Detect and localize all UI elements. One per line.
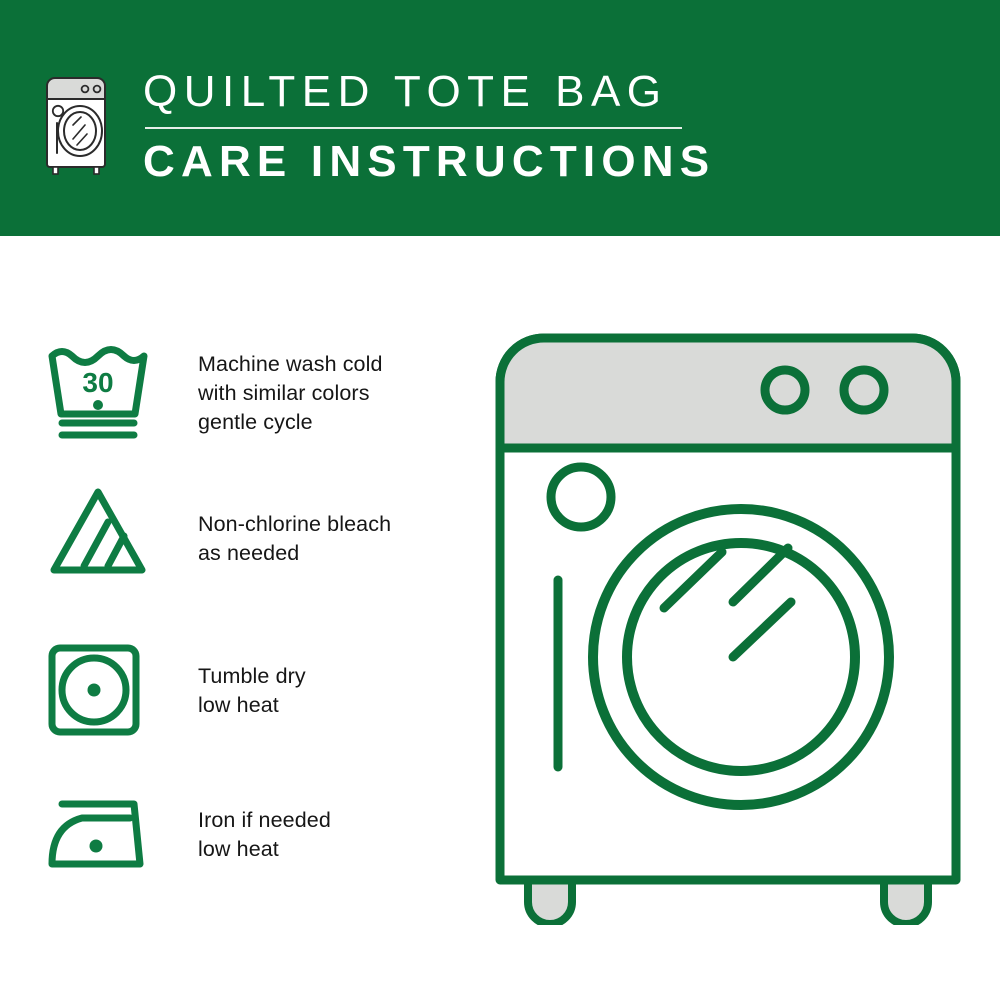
- header-banner: QUILTED TOTE BAG CARE INSTRUCTIONS: [0, 0, 1000, 236]
- care-instructions-poster: QUILTED TOTE BAG CARE INSTRUCTIONS 30 Ma…: [0, 0, 1000, 1000]
- care-item-label: Machine wash cold with similar colors ge…: [198, 344, 383, 437]
- svg-text:30: 30: [82, 367, 113, 398]
- care-item-machine-wash: 30 Machine wash cold with similar colors…: [46, 344, 383, 440]
- care-item-label: Iron if needed low heat: [198, 792, 331, 864]
- leg-right: [884, 878, 928, 924]
- title-divider: [145, 127, 682, 129]
- washing-machine-icon: [43, 67, 115, 175]
- machine-wash-30-gentle-symbol: 30: [46, 344, 156, 440]
- care-instructions-list: 30 Machine wash cold with similar colors…: [0, 236, 470, 1000]
- care-item-tumble-dry: Tumble dry low heat: [46, 642, 306, 738]
- header-title-group: QUILTED TOTE BAG CARE INSTRUCTIONS: [143, 66, 843, 188]
- page-title: QUILTED TOTE BAG: [143, 66, 843, 118]
- leg-left: [528, 878, 572, 924]
- page-subtitle: CARE INSTRUCTIONS: [143, 136, 843, 188]
- front-load-washing-machine-illustration: [492, 330, 964, 925]
- non-chlorine-bleach-symbol: [46, 484, 156, 576]
- care-item-bleach: Non-chlorine bleach as needed: [46, 484, 391, 576]
- iron-low-heat-symbol: [46, 792, 156, 872]
- care-item-label: Tumble dry low heat: [198, 642, 306, 720]
- care-item-iron: Iron if needed low heat: [46, 792, 331, 872]
- care-item-label: Non-chlorine bleach as needed: [198, 484, 391, 568]
- tumble-dry-low-heat-symbol: [46, 642, 156, 738]
